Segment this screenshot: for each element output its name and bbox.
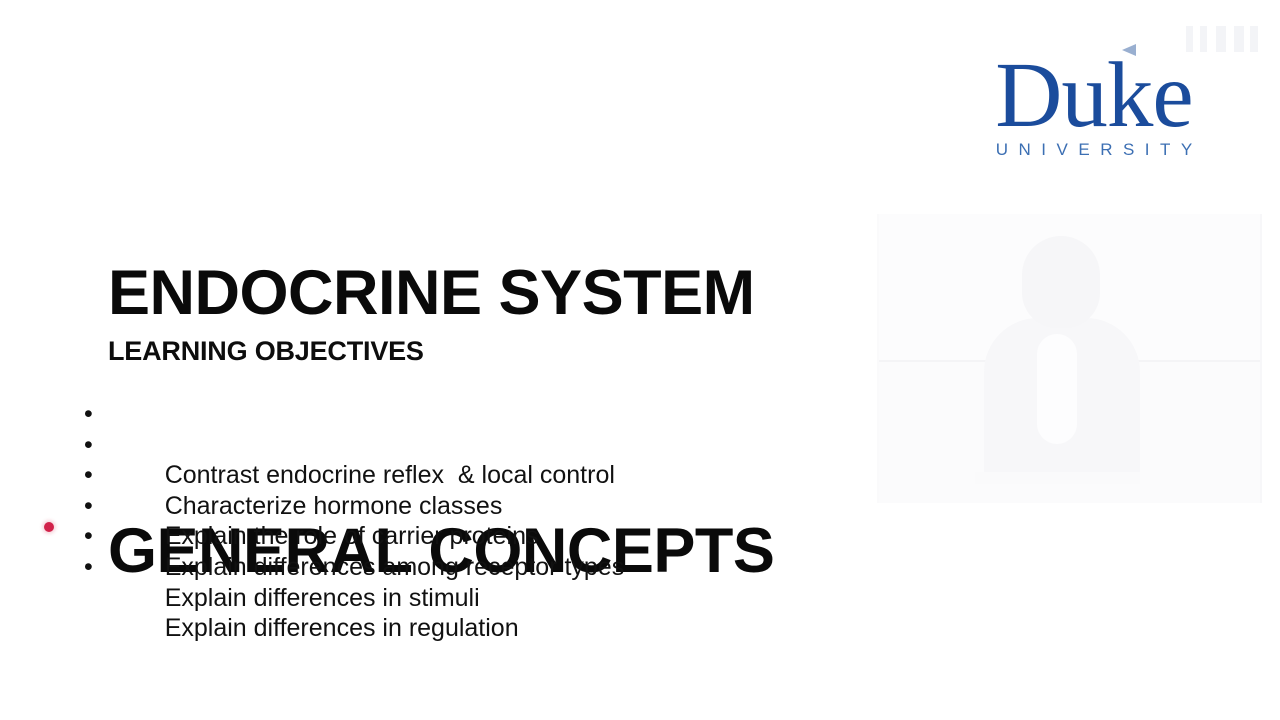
title-line-1: ENDOCRINE SYSTEM xyxy=(108,250,868,336)
presenter-highlight xyxy=(1037,334,1077,444)
bullet-icon: • xyxy=(84,521,110,552)
video-lower-band xyxy=(975,472,1140,484)
learning-objectives-heading: LEARNING OBJECTIVES xyxy=(108,336,424,367)
bullet-icon: • xyxy=(84,399,110,430)
duke-university-subtitle: UNIVERSITY xyxy=(965,140,1223,160)
list-item: • Characterize hormone classes xyxy=(84,430,824,461)
learning-objectives-list: • Contrast endocrine reflex & local cont… xyxy=(84,399,824,583)
video-left-edge xyxy=(877,214,879,503)
video-right-edge xyxy=(1260,214,1262,503)
duke-university-logo: Duke UNIVERSITY xyxy=(963,48,1225,170)
faint-overlay-artifact xyxy=(1080,24,1260,58)
bullet-icon: • xyxy=(84,460,110,491)
list-item-label: Explain differences in stimuli xyxy=(165,584,480,612)
list-item: • Explain the role of carrier proteins xyxy=(84,460,824,491)
list-item: • Explain differences in regulation xyxy=(84,552,824,583)
slide-canvas: ENDOCRINE SYSTEM GENERAL CONCEPTS LEARNI… xyxy=(0,0,1280,720)
list-item: • Explain differences in stimuli xyxy=(84,521,824,552)
list-item-label: Explain differences in regulation xyxy=(165,614,519,642)
duke-wordmark: Duke xyxy=(963,48,1225,144)
laser-pointer-dot xyxy=(44,522,54,532)
bullet-icon: • xyxy=(84,430,110,461)
cursor-arrow-icon xyxy=(1122,44,1136,56)
faint-overlay-bars-icon xyxy=(1186,26,1258,52)
bullet-icon: • xyxy=(84,491,110,522)
presenter-video-thumbnail xyxy=(877,214,1262,503)
bullet-icon: • xyxy=(84,552,110,583)
list-item: • Explain differences among receptor typ… xyxy=(84,491,824,522)
presenter-head-silhouette xyxy=(1022,236,1100,328)
list-item: • Contrast endocrine reflex & local cont… xyxy=(84,399,824,430)
